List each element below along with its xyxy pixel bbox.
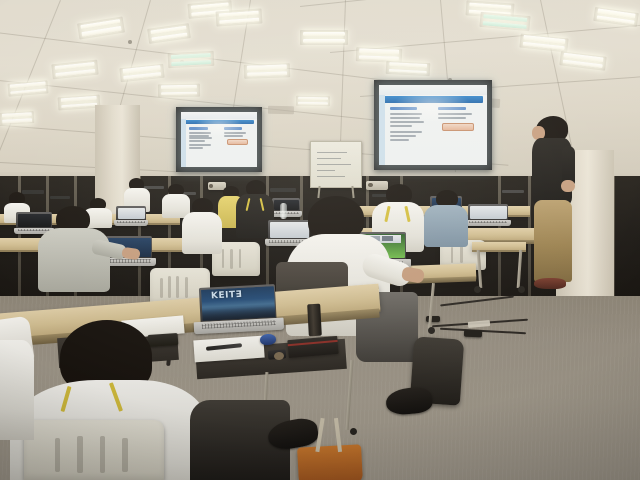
chair-front-left[interactable] xyxy=(24,420,164,480)
ceiling-light-fixture xyxy=(296,96,330,107)
ceiling-light-fixture xyxy=(119,64,164,83)
ceiling-light-fixture xyxy=(158,84,200,98)
left-projection-screen xyxy=(176,107,262,172)
rear-laptop-d xyxy=(116,206,146,226)
desk-caster xyxy=(350,428,357,435)
presenter-pants xyxy=(534,200,572,282)
whiteboard xyxy=(310,141,362,188)
standing-presenter xyxy=(528,116,576,288)
ceiling-light-fixture xyxy=(300,30,348,45)
ceiling-light-fixture xyxy=(8,80,49,96)
side-table xyxy=(472,242,526,250)
second-row-white-shirt xyxy=(182,198,222,252)
ceiling-light-fixture xyxy=(51,60,98,80)
ceiling-light-fixture xyxy=(168,51,215,68)
drink-can xyxy=(307,304,322,337)
side-table-caster xyxy=(474,286,481,293)
presenter-sandal xyxy=(534,278,566,289)
ceiling-light-fixture xyxy=(593,7,639,27)
ceiling-light-fixture xyxy=(58,95,101,111)
smoke-detector-icon xyxy=(128,40,132,44)
desk-caster xyxy=(428,327,435,334)
rear-laptop-b xyxy=(468,204,508,226)
tote-bag-orange xyxy=(297,444,363,480)
photo-scene: KEIT∃ xyxy=(0,0,640,480)
front-edge-participant xyxy=(0,340,34,440)
third-row-blue-shirt xyxy=(424,190,468,246)
ceiling-light-fixture xyxy=(216,8,263,26)
side-table-caster xyxy=(518,286,525,293)
ceiling-light-fixture xyxy=(77,17,125,40)
ceiling-light-fixture xyxy=(0,111,34,125)
ceiling-light-fixture xyxy=(559,51,606,71)
second-row-gray-hoodie xyxy=(38,206,110,290)
floor-power-box xyxy=(464,330,482,338)
right-projection-screen xyxy=(374,80,492,170)
keite-laptop[interactable]: KEIT∃ xyxy=(199,284,277,334)
ceiling-light-fixture xyxy=(147,23,191,44)
ceiling-vent xyxy=(268,106,294,114)
ceiling-light-fixture xyxy=(386,61,431,76)
ceiling-light-fixture xyxy=(479,12,530,31)
ceiling-light-fixture xyxy=(519,34,568,53)
ceiling-light-fixture xyxy=(244,63,290,79)
keite-logo-text: KEIT∃ xyxy=(211,290,243,302)
